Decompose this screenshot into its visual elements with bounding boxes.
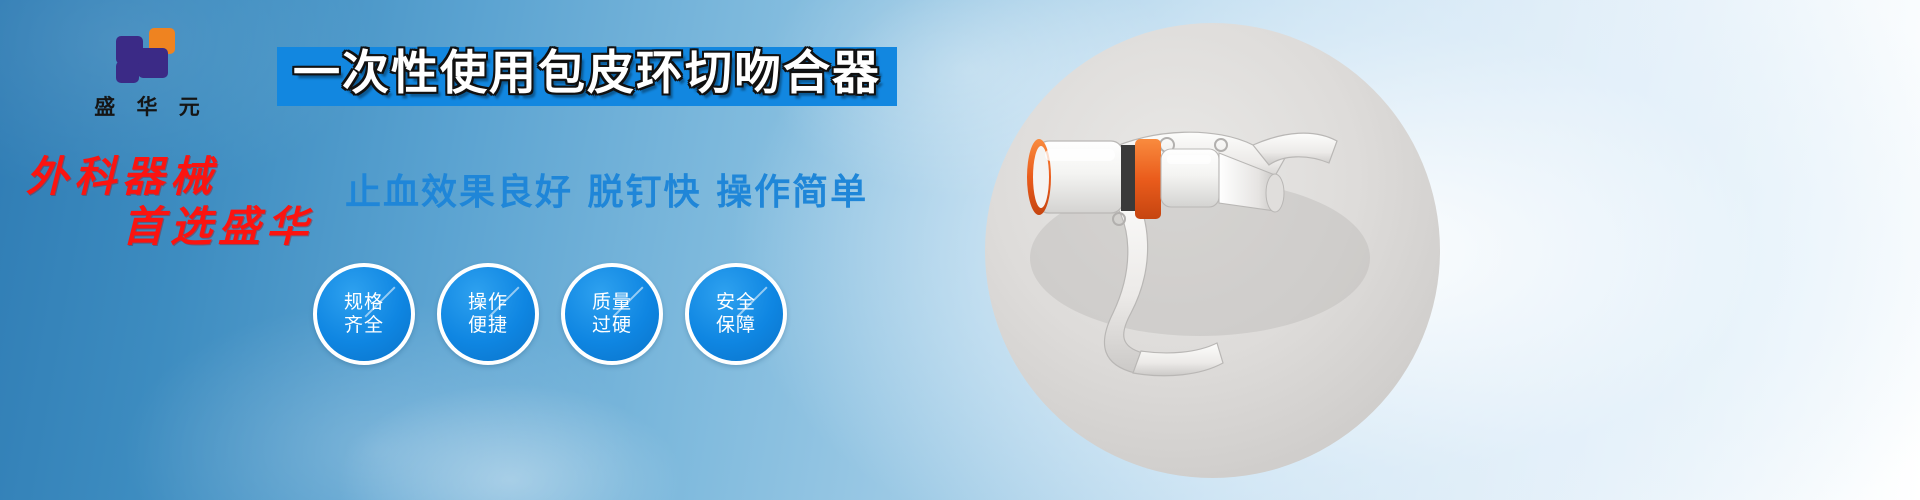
badge-line-2: 齐全 <box>344 314 384 337</box>
feature-badge-quality[interactable]: 质量 过硬 <box>561 263 663 365</box>
brand-name: 盛 华 元 <box>62 91 232 121</box>
badge-line-1: 安全 <box>716 291 756 314</box>
feature-badge-operation[interactable]: 操作 便捷 <box>437 263 539 365</box>
badge-line-1: 质量 <box>592 291 632 314</box>
feature-badge-list: 规格 齐全 操作 便捷 质量 过硬 安全 保障 <box>313 263 787 365</box>
page-title: 一次性使用包皮环切吻合器 <box>277 47 897 106</box>
background-glow-bottom-center <box>330 380 690 500</box>
promo-banner: 盛 华 元 一次性使用包皮环切吻合器 外科器械 首选盛华 止血效果良好 脱钉快 … <box>0 0 1920 500</box>
badge-line-2: 过硬 <box>592 314 632 337</box>
badge-line-2: 保障 <box>716 314 756 337</box>
slogan-line-2: 首选盛华 <box>122 202 314 252</box>
badge-line-1: 规格 <box>344 291 384 314</box>
feature-badge-safety[interactable]: 安全 保障 <box>685 263 787 365</box>
badge-line-1: 操作 <box>468 291 508 314</box>
brand-logo[interactable]: 盛 华 元 <box>62 28 232 121</box>
feature-badge-specs[interactable]: 规格 齐全 <box>313 263 415 365</box>
circumcision-stapler-device-photo <box>985 23 1440 478</box>
product-image-circle <box>985 23 1440 478</box>
subtitle-features: 止血效果良好 脱钉快 操作简单 <box>345 163 868 215</box>
slogan-line-1: 外科器械 <box>26 152 218 201</box>
slogan-calligraphy: 外科器械 首选盛华 <box>26 152 314 251</box>
badge-line-2: 便捷 <box>468 314 508 337</box>
shenghuayuan-blocks-logo-icon <box>116 28 178 84</box>
